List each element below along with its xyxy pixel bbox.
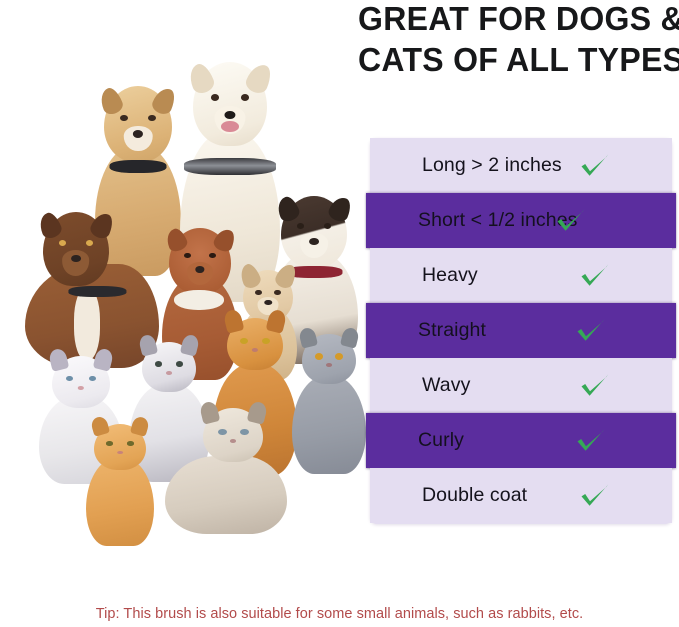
dog-ear-right	[326, 195, 354, 225]
dog-nose	[309, 238, 319, 245]
dog-nose	[133, 130, 143, 138]
checklist-row[interactable]: Heavy	[370, 248, 672, 303]
cat-head	[203, 408, 263, 462]
dog-eye-right	[274, 290, 281, 296]
checklist-row-label: Double coat	[422, 484, 527, 507]
dog-collar	[69, 286, 126, 297]
dog-nose	[264, 300, 272, 305]
dog-ear-right	[88, 211, 116, 242]
green-checkmark-icon	[578, 261, 612, 291]
green-checkmark-icon	[574, 316, 608, 346]
dog-ear-left	[36, 211, 64, 242]
checklist-row-label: Straight	[418, 319, 486, 342]
dog-tongue	[221, 121, 239, 132]
cat-eye-right	[240, 429, 249, 435]
checklist-row[interactable]: Long > 2 inches	[370, 138, 672, 193]
checklist-row-label: Long > 2 inches	[422, 154, 562, 177]
dog-harness	[184, 158, 276, 175]
dog-ear-left	[186, 61, 217, 96]
green-checkmark-icon	[578, 151, 612, 181]
dog-head	[243, 270, 293, 322]
dog-eye-right	[241, 94, 249, 101]
cat-eye-left	[66, 376, 74, 382]
cat-nose	[230, 439, 236, 443]
checklist-row[interactable]: Straight	[366, 303, 676, 358]
cat-eye-right	[127, 441, 134, 445]
dog-head	[193, 62, 267, 146]
cat-eye-right	[89, 376, 97, 382]
green-checkmark-icon	[554, 206, 588, 236]
infographic-page: GREAT FOR DOGS & CATS OF ALL TYPES	[0, 0, 679, 627]
cat-body	[165, 456, 287, 534]
tip-text: Tip: This brush is also suitable for som…	[0, 606, 679, 622]
dog-head	[169, 228, 231, 294]
cat-body	[292, 376, 366, 474]
checklist-row[interactable]: Curly	[366, 413, 676, 468]
checklist-row-label: Curly	[418, 429, 464, 452]
dog-collar	[109, 160, 166, 173]
checklist-row[interactable]: Short < 1/2 inches	[366, 193, 676, 248]
dog-eye-right	[86, 240, 93, 246]
cat-head	[52, 356, 110, 408]
page-title-line-2: CATS OF ALL TYPES	[358, 39, 668, 80]
checklist-row-label: Wavy	[422, 374, 470, 397]
cat-eye-left	[218, 429, 227, 435]
green-checkmark-icon	[578, 371, 612, 401]
dog-chest-blaze	[74, 288, 100, 360]
dog-eye-left	[255, 290, 262, 296]
dog-ear-left	[97, 85, 126, 117]
cat-eye-left	[106, 441, 113, 445]
cat-eye-left	[315, 353, 323, 360]
coat-type-checklist: Long > 2 inches Short < 1/2 inches Heavy	[370, 138, 672, 524]
dog-head	[281, 196, 347, 268]
cat-eye-right	[176, 361, 183, 367]
dog-eye-right	[148, 115, 155, 121]
cat-nose	[117, 451, 123, 454]
dog-eye-right	[324, 223, 331, 229]
animal-orange-tabby-cat	[84, 424, 156, 546]
cat-head	[302, 334, 356, 384]
dog-head	[104, 86, 172, 162]
green-checkmark-icon	[578, 481, 612, 511]
cat-nose	[78, 386, 84, 390]
dog-ear-right	[150, 85, 179, 117]
cat-head	[94, 424, 146, 470]
cat-eye-left	[240, 338, 248, 344]
dog-eye-left	[211, 94, 219, 101]
dog-eye-left	[297, 223, 304, 229]
cat-nose	[166, 371, 172, 375]
cat-body	[86, 458, 154, 546]
checklist-row-label: Heavy	[422, 264, 478, 287]
green-checkmark-icon	[574, 426, 608, 456]
dog-eye-left	[184, 253, 191, 258]
pets-group-photo	[0, 56, 372, 552]
cat-nose	[252, 348, 258, 352]
cat-eye-left	[155, 361, 162, 367]
dog-ear-right	[243, 61, 274, 96]
dog-ruffle-collar	[174, 290, 224, 310]
cat-eye-right	[262, 338, 270, 344]
dog-eye-left	[59, 240, 66, 246]
checklist-row[interactable]: Double coat	[370, 468, 672, 523]
cat-eye-right	[335, 353, 343, 360]
page-title: GREAT FOR DOGS & CATS OF ALL TYPES	[358, 0, 668, 80]
dog-eye-left	[120, 115, 127, 121]
checklist-row[interactable]: Wavy	[370, 358, 672, 413]
page-title-line-1: GREAT FOR DOGS &	[358, 0, 668, 39]
cat-head	[227, 318, 283, 370]
dog-head	[43, 212, 109, 286]
animal-british-shorthair-cat	[290, 334, 368, 474]
cat-head	[142, 342, 196, 392]
cat-nose	[326, 363, 332, 367]
dog-nose	[195, 266, 204, 273]
dog-eye-right	[209, 253, 216, 258]
